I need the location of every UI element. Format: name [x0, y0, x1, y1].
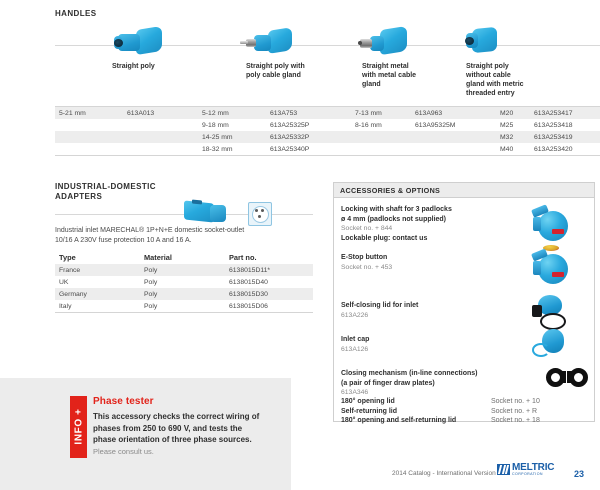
meltric-logo-text: MELTRIC CORPORATION	[512, 463, 554, 476]
option-label: Self-returning lid	[341, 407, 491, 417]
cell-part-b: 613A25332P	[266, 131, 351, 143]
accessory-title-line2: (a pair of finger draw plates)	[341, 379, 551, 389]
cell-part-no: 6138015D40	[225, 276, 313, 288]
cell-range-b: 14-25 mm	[198, 131, 266, 143]
accessory-image-finger-draw-plates	[546, 367, 590, 389]
cell-thread-d: M32	[496, 131, 530, 143]
product-caption-line: Straight metal	[362, 62, 462, 71]
phase-tester-body: This accessory checks the correct wiring…	[93, 411, 273, 446]
cell-part-b: 613A25340P	[266, 143, 351, 155]
accessory-item-estop: E-Stop button Socket no. + 453	[341, 253, 521, 272]
cell-range-a: 5-21 mm	[55, 107, 123, 119]
option-label: 180° opening and self-returning lid	[341, 416, 491, 426]
accessory-title-line1: Closing mechanism (in-line connections)	[341, 369, 551, 379]
cell-part-c	[411, 143, 496, 155]
cell-range-c: 8-16 mm	[351, 119, 411, 131]
product-image-straight-poly-metric-entry	[462, 26, 512, 60]
adapters-section-title: INDUSTRIAL-DOMESTIC ADAPTERS	[55, 182, 175, 201]
phase-tester-body-line3: phase orientation of three phase sources…	[93, 434, 273, 446]
page-number: 23	[574, 469, 584, 479]
adapters-table-wrapper: Type Material Part no. France Poly 61380…	[55, 250, 313, 313]
accessories-panel: ACCESSORIES & OPTIONS Locking with shaft…	[333, 182, 595, 422]
product-image-straight-poly-cable-gland	[240, 24, 304, 62]
accessory-title-line3: Lockable plug: contact us	[341, 234, 521, 244]
table-row: 14-25 mm 613A25332P M32 613A253419	[55, 131, 600, 143]
cell-range-a	[55, 143, 123, 155]
phase-tester-title: Phase tester	[93, 396, 154, 407]
cell-part-d: 613A253419	[530, 131, 600, 143]
cell-type: France	[55, 264, 140, 276]
accessories-panel-title: ACCESSORIES & OPTIONS	[334, 183, 594, 198]
cell-thread-d: M25	[496, 119, 530, 131]
cell-part-c: 613A95325M	[411, 119, 496, 131]
footer-catalog-text: 2014 Catalog - International Version	[392, 470, 496, 477]
cell-part-a: 613A013	[123, 107, 198, 119]
table-row: Italy Poly 6138015D06	[55, 300, 313, 312]
info-plus-badge: INFO +	[70, 396, 87, 458]
adapters-description-line2: 10/16 A 230V fuse protection 10 A and 16…	[55, 236, 317, 246]
cell-range-a	[55, 119, 123, 131]
cell-range-b: 9-18 mm	[198, 119, 266, 131]
cell-type: Germany	[55, 288, 140, 300]
table-header-row: Type Material Part no.	[55, 250, 313, 264]
option-value: Socket no. + 10	[491, 397, 540, 407]
cell-part-no: 6138015D30	[225, 288, 313, 300]
adapters-title-line1: INDUSTRIAL-DOMESTIC	[55, 182, 175, 192]
product-caption-line: Straight poly with	[246, 62, 346, 71]
accessory-part-no: 613A226	[341, 311, 521, 321]
accessory-image-estop-button-plug	[530, 245, 574, 289]
table-row: Germany Poly 6138015D30	[55, 288, 313, 300]
product-caption-line: without cable	[466, 71, 561, 80]
handles-table-body: 5-21 mm 613A013 5-12 mm 613A753 7-13 mm …	[55, 107, 600, 155]
product-caption-2: Straight metal with metal cable gland	[362, 62, 462, 89]
cell-thread-d: M40	[496, 143, 530, 155]
cell-part-a	[123, 131, 198, 143]
product-caption-line: Straight poly	[466, 62, 561, 71]
accessory-item-padlock-shaft: Locking with shaft for 3 padlocks ø 4 mm…	[341, 205, 521, 243]
cell-thread-d: M20	[496, 107, 530, 119]
column-header-type: Type	[55, 250, 140, 264]
cell-range-a	[55, 131, 123, 143]
accessory-socket-no: Socket no. + 453	[341, 263, 521, 273]
meltric-logo-mark-icon	[497, 464, 510, 475]
handles-table: 5-21 mm 613A013 5-12 mm 613A753 7-13 mm …	[55, 107, 600, 155]
table-row: 5-21 mm 613A013 5-12 mm 613A753 7-13 mm …	[55, 107, 600, 119]
info-badge-label: INFO +	[73, 396, 84, 458]
brand-name: MELTRIC	[512, 463, 554, 472]
product-caption-line: gland	[362, 80, 462, 89]
cell-part-d: 613A253418	[530, 119, 600, 131]
accessory-part-no: 613A126	[341, 345, 521, 355]
product-image-straight-metal-cable-gland	[358, 24, 422, 62]
table-row: 18-32 mm 613A25340P M40 613A253420	[55, 143, 600, 155]
handles-section-title: HANDLES	[55, 9, 96, 19]
phase-tester-body-line2: phases from 250 to 690 V, and tests the	[93, 423, 273, 435]
product-caption-line: gland with metric	[466, 80, 561, 89]
cell-range-c	[351, 131, 411, 143]
table-row: 9-18 mm 613A25325P 8-16 mm 613A95325M M2…	[55, 119, 600, 131]
column-header-material: Material	[140, 250, 225, 264]
product-caption-line: Straight poly	[112, 62, 202, 71]
accessory-item-closing-mechanism: Closing mechanism (in-line connections) …	[341, 369, 551, 398]
accessory-title-line2: ø 4 mm (padlocks not supplied)	[341, 215, 521, 225]
phase-tester-body-line1: This accessory checks the correct wiring…	[93, 411, 273, 423]
accessory-title-line1: E-Stop button	[341, 253, 521, 263]
phase-tester-note: Please consult us.	[93, 447, 154, 456]
accessory-item-inlet-cap: Inlet cap 613A126	[341, 335, 521, 354]
accessory-image-padlock-shaft-plug	[530, 203, 574, 245]
option-row: 180° opening lid Socket no. + 10	[341, 397, 589, 407]
product-caption-1: Straight poly with poly cable gland	[246, 62, 346, 80]
cell-material: Poly	[140, 264, 225, 276]
product-caption-0: Straight poly	[112, 62, 202, 71]
cell-part-b: 613A25325P	[266, 119, 351, 131]
column-header-part-no: Part no.	[225, 250, 313, 264]
cell-part-a	[123, 119, 198, 131]
option-value: Socket no. + R	[491, 407, 537, 417]
cell-part-no: 6138015D11*	[225, 264, 313, 276]
table-row: France Poly 6138015D11*	[55, 264, 313, 276]
cell-part-d: 613A253417	[530, 107, 600, 119]
accessory-image-self-closing-lid	[530, 295, 574, 329]
product-caption-3: Straight poly without cable gland with m…	[466, 62, 561, 98]
table-row: UK Poly 6138015D40	[55, 276, 313, 288]
adapters-title-line2: ADAPTERS	[55, 192, 175, 202]
option-label: 180° opening lid	[341, 397, 491, 407]
product-caption-line: with metal cable	[362, 71, 462, 80]
cell-material: Poly	[140, 288, 225, 300]
accessory-title-line1: Inlet cap	[341, 335, 521, 345]
accessory-title-line1: Locking with shaft for 3 padlocks	[341, 205, 521, 215]
accessory-socket-no: Socket no. + 844	[341, 224, 521, 234]
cell-part-c: 613A963	[411, 107, 496, 119]
product-image-straight-poly	[110, 22, 174, 62]
product-image-domestic-socket-outlet	[248, 202, 272, 226]
product-caption-line: threaded entry	[466, 89, 561, 98]
option-value: Socket no. + 18	[491, 416, 540, 426]
cell-range-c: 7-13 mm	[351, 107, 411, 119]
option-row: 180° opening and self-returning lid Sock…	[341, 416, 589, 426]
cell-range-b: 5-12 mm	[198, 107, 266, 119]
cell-part-no: 6138015D06	[225, 300, 313, 312]
option-row: Self-returning lid Socket no. + R	[341, 407, 589, 417]
accessory-option-rows: 180° opening lid Socket no. + 10 Self-re…	[341, 397, 589, 426]
accessory-image-inlet-cap	[530, 329, 574, 359]
adapters-table: Type Material Part no. France Poly 61380…	[55, 250, 313, 312]
cell-type: UK	[55, 276, 140, 288]
accessory-title-line1: Self-closing lid for inlet	[341, 301, 521, 311]
cell-range-b: 18-32 mm	[198, 143, 266, 155]
accessory-item-self-closing-lid: Self-closing lid for inlet 613A226	[341, 301, 521, 320]
adapters-description: Industrial inlet MARECHAL® 1P+N+E domest…	[55, 226, 317, 245]
adapters-table-body: France Poly 6138015D11* UK Poly 6138015D…	[55, 264, 313, 312]
product-caption-line: poly cable gland	[246, 71, 346, 80]
cell-part-b: 613A753	[266, 107, 351, 119]
cell-material: Poly	[140, 300, 225, 312]
adapters-description-line1: Industrial inlet MARECHAL® 1P+N+E domest…	[55, 226, 317, 236]
cell-material: Poly	[140, 276, 225, 288]
handles-table-wrapper: 5-21 mm 613A013 5-12 mm 613A753 7-13 mm …	[55, 106, 600, 156]
cell-part-a	[123, 143, 198, 155]
cell-type: Italy	[55, 300, 140, 312]
cell-range-c	[351, 143, 411, 155]
cell-part-d: 613A253420	[530, 143, 600, 155]
cell-part-c	[411, 131, 496, 143]
meltric-logo: MELTRIC CORPORATION	[497, 463, 554, 476]
